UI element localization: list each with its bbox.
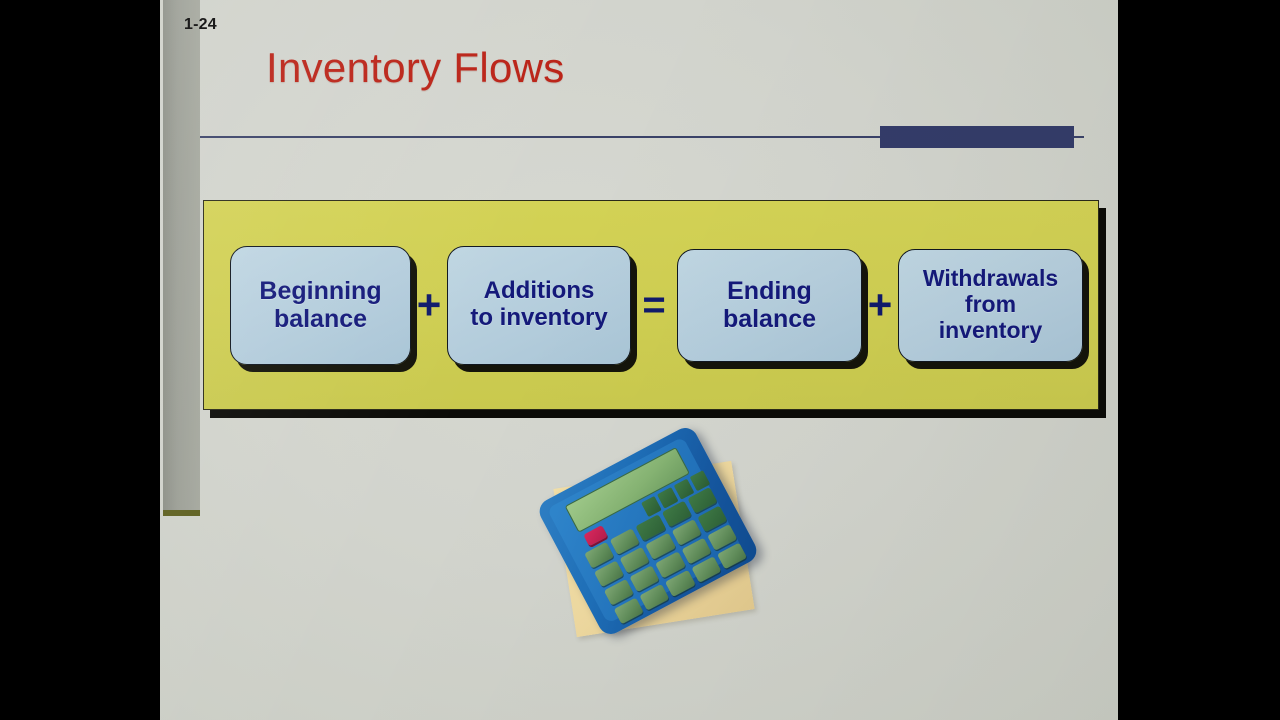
equation-box-text: Ending balance bbox=[723, 277, 816, 333]
letterbox-right bbox=[1118, 0, 1280, 720]
equation-box-line-2: balance bbox=[723, 305, 816, 333]
calculator-illustration bbox=[540, 452, 790, 657]
equation-box-additions-to-inventory: Additions to inventory bbox=[447, 246, 631, 365]
equation-box-text: Beginning balance bbox=[259, 277, 381, 333]
equation-box-line-2: from bbox=[965, 291, 1016, 317]
equation-box-line-1: Beginning bbox=[259, 277, 381, 305]
equation-box-text: Additions to inventory bbox=[470, 278, 607, 332]
equation-box-text: Withdrawals from inventory bbox=[923, 266, 1058, 343]
title-accent-tab bbox=[880, 126, 1074, 148]
equation-box-line-1: Withdrawals bbox=[923, 265, 1058, 291]
equation-box-line-1: Additions bbox=[484, 277, 595, 304]
equation-box-line-2: balance bbox=[274, 305, 367, 333]
page-title: Inventory Flows bbox=[266, 44, 565, 92]
operator-plus-1: + bbox=[411, 284, 447, 326]
operator-equals: = bbox=[637, 285, 671, 325]
equation-box-line-1: Ending bbox=[727, 277, 812, 305]
slide-number: 1-24 bbox=[184, 16, 217, 34]
equation-box-beginning-balance: Beginning balance bbox=[230, 246, 411, 365]
equation-box-line-3: inventory bbox=[939, 317, 1043, 343]
left-accent-strip-foot bbox=[163, 510, 200, 516]
presentation-slide: 1-24 Inventory Flows Beginning balance +… bbox=[160, 0, 1118, 720]
left-accent-strip bbox=[163, 0, 200, 510]
letterbox-left bbox=[0, 0, 160, 720]
inventory-flow-equation-panel: Beginning balance + Additions to invento… bbox=[203, 200, 1099, 410]
slide-viewer: 1-24 Inventory Flows Beginning balance +… bbox=[0, 0, 1280, 720]
equation-box-line-2: to inventory bbox=[470, 304, 607, 331]
equation-box-withdrawals-from-inventory: Withdrawals from inventory bbox=[898, 249, 1083, 362]
equation-box-ending-balance: Ending balance bbox=[677, 249, 862, 362]
operator-plus-2: + bbox=[862, 284, 898, 326]
equation-row: Beginning balance + Additions to invento… bbox=[204, 201, 1098, 409]
